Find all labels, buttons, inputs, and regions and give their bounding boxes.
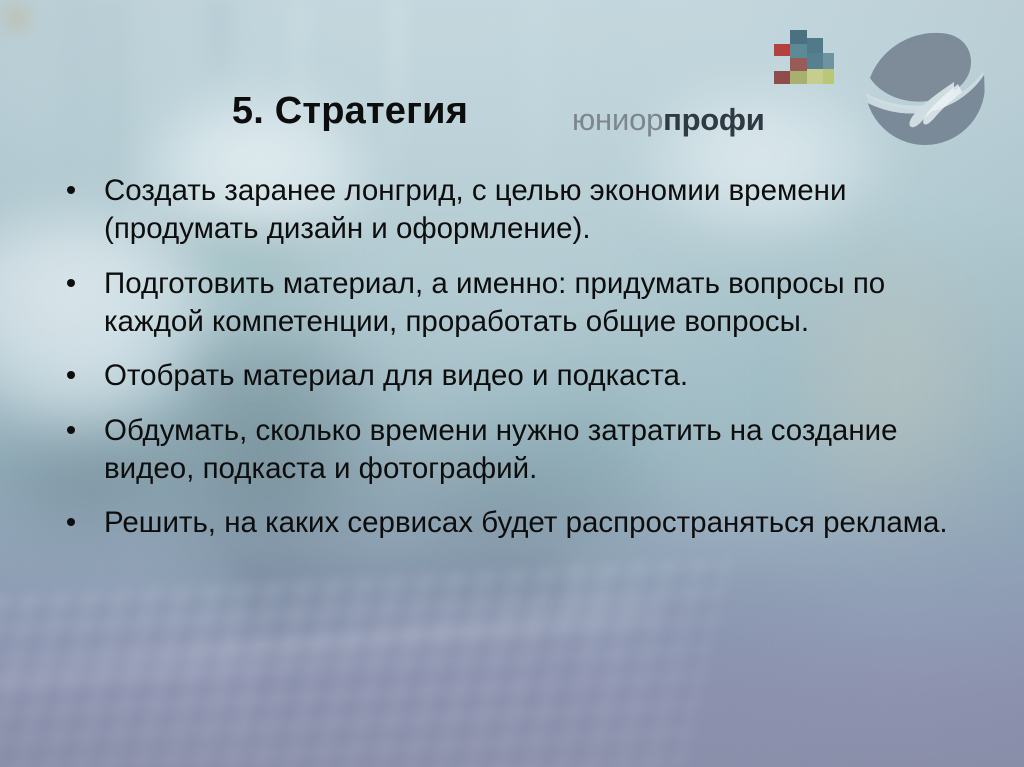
list-item: Подготовить материал, а именно: придумат… [52,265,982,342]
bullet-dot-icon [67,426,75,434]
list-item-text: Создать заранее лонгрид, с целью экономи… [104,172,982,249]
juniorprofi-pixel-mark-icon [766,30,844,92]
bullet-dot-icon [67,518,75,526]
list-item-text: Отобрать материал для видео и подкаста. [104,357,982,395]
bullet-dot-icon [67,371,75,379]
organization-emblem-icon [862,22,988,148]
list-item-text: Подготовить материал, а именно: придумат… [104,265,982,342]
bullet-list: Создать заранее лонгрид, с целью экономи… [52,172,982,543]
presentation-slide: 5. Стратегия [0,0,1024,767]
juniorprofi-wordmark: юниорпрофи [572,104,764,135]
juniorprofi-logo: юниорпрофи [566,26,866,142]
list-item: Отобрать материал для видео и подкаста. [52,357,982,395]
list-item-text: Решить, на каких сервисах будет распрост… [104,504,982,542]
bullet-dot-icon [67,279,75,287]
list-item: Обдумать, сколько времени нужно затратит… [52,412,982,489]
slide-content: 5. Стратегия [0,0,1024,767]
bullet-dot-icon [67,186,75,194]
list-item: Создать заранее лонгрид, с целью экономи… [52,172,982,249]
list-item: Решить, на каких сервисах будет распрост… [52,504,982,542]
list-item-text: Обдумать, сколько времени нужно затратит… [104,412,982,489]
wordmark-profi: профи [663,102,764,137]
wordmark-junior: юниор [572,102,663,137]
